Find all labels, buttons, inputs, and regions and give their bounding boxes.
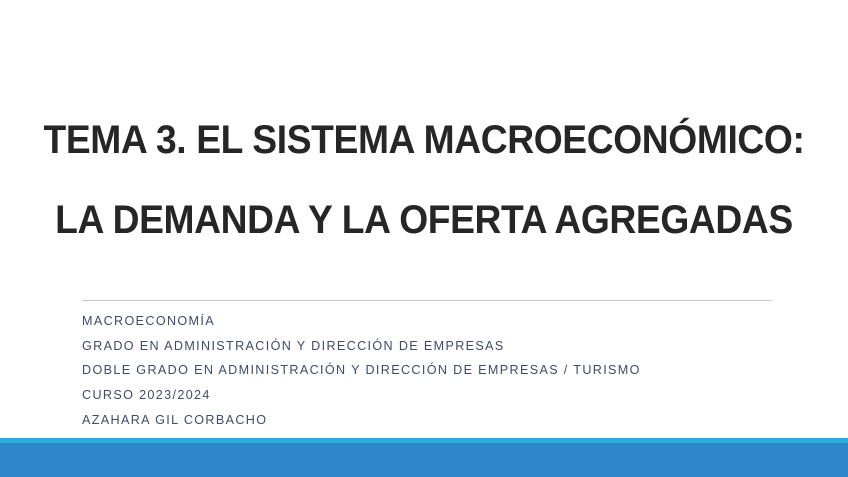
subtitle-line-course-name: MACROECONOMÍA: [82, 309, 782, 334]
subtitle-line-degree: GRADO EN ADMINISTRACIÓN Y DIRECCIÓN DE E…: [82, 334, 782, 359]
footer-accent-band-dark: [0, 443, 848, 477]
title-line-1: TEMA 3. EL SISTEMA MACROECONÓMICO:: [30, 118, 819, 162]
subtitle-line-academic-year: CURSO 2023/2024: [82, 383, 782, 408]
slide-subtitle: MACROECONOMÍA GRADO EN ADMINISTRACIÓN Y …: [82, 309, 782, 433]
title-slide: TEMA 3. EL SISTEMA MACROECONÓMICO: LA DE…: [0, 0, 848, 477]
subtitle-line-author: AZAHARA GIL CORBACHO: [82, 408, 782, 433]
subtitle-line-double-degree: DOBLE GRADO EN ADMINISTRACIÓN Y DIRECCIÓ…: [82, 358, 782, 383]
slide-title: TEMA 3. EL SISTEMA MACROECONÓMICO: LA DE…: [0, 118, 848, 242]
title-line-2: LA DEMANDA Y LA OFERTA AGREGADAS: [30, 198, 819, 242]
title-divider-rule: [82, 300, 772, 301]
